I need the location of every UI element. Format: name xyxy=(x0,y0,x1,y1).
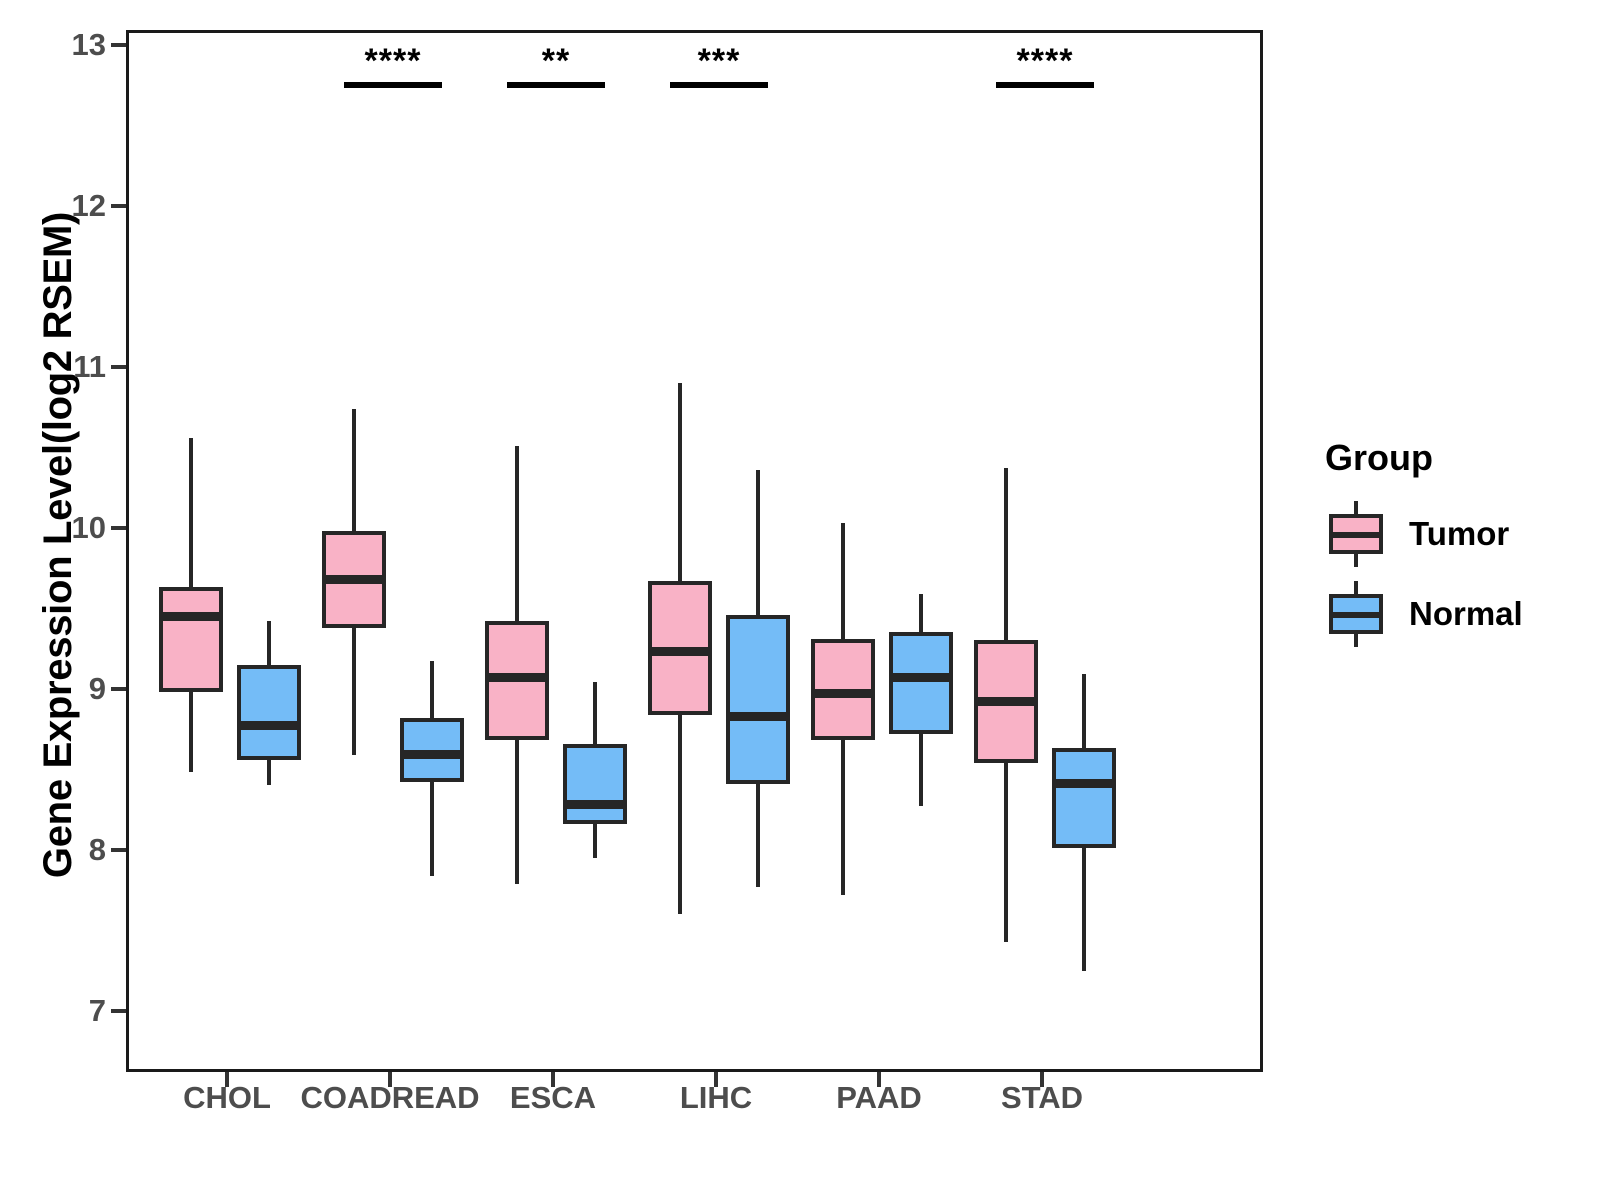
boxplot-median-line xyxy=(889,673,953,682)
x-tick-label-paad: PAAD xyxy=(836,1080,922,1116)
legend-item-label: Tumor xyxy=(1409,515,1509,553)
boxplot-median-line xyxy=(159,612,223,621)
y-tick-mark xyxy=(111,526,126,530)
chart-root: Gene Expression Level(log2 RSEM) 7891011… xyxy=(0,0,1600,1200)
y-tick-label: 7 xyxy=(60,993,106,1029)
y-tick-mark xyxy=(111,1009,126,1013)
legend-item-normal[interactable]: Normal xyxy=(1325,581,1585,647)
y-tick-label: 12 xyxy=(60,188,106,224)
significance-label: ** xyxy=(542,44,570,78)
plot-panel: ************* xyxy=(126,30,1263,1072)
boxplot-box xyxy=(1052,748,1116,848)
significance-label: *** xyxy=(698,44,741,78)
significance-bracket-line xyxy=(670,82,768,88)
boxplot-median-line xyxy=(322,575,386,584)
boxplot-median-line xyxy=(648,647,712,656)
boxplot-median-line xyxy=(563,800,627,809)
x-tick-label-coadread: COADREAD xyxy=(300,1080,479,1116)
y-tick-label: 11 xyxy=(60,349,106,385)
x-tick-label-esca: ESCA xyxy=(510,1080,596,1116)
significance-bracket-line xyxy=(996,82,1094,88)
boxplot-median-line xyxy=(974,697,1038,706)
boxplot-median-line xyxy=(400,750,464,759)
boxplot-median-line xyxy=(1052,779,1116,788)
x-tick-label-stad: STAD xyxy=(1001,1080,1083,1116)
y-tick-label: 8 xyxy=(60,832,106,868)
boxplot-median-line xyxy=(726,712,790,721)
x-tick-label-lihc: LIHC xyxy=(680,1080,752,1116)
y-tick-mark xyxy=(111,43,126,47)
significance-bracket-line xyxy=(344,82,442,88)
x-tick-label-chol: CHOL xyxy=(183,1080,271,1116)
legend-item-label: Normal xyxy=(1409,595,1523,633)
boxplot-box xyxy=(159,587,223,692)
legend-key-swatch xyxy=(1325,501,1387,567)
significance-label: **** xyxy=(1017,44,1074,78)
y-tick-mark xyxy=(111,365,126,369)
boxplot-median-line xyxy=(237,721,301,730)
legend-key-median xyxy=(1329,532,1383,538)
boxplot-box xyxy=(889,632,953,733)
y-tick-label: 10 xyxy=(60,510,106,546)
legend-key-swatch xyxy=(1325,581,1387,647)
legend-items: TumorNormal xyxy=(1325,501,1585,647)
boxplot-median-line xyxy=(485,673,549,682)
y-tick-mark xyxy=(111,204,126,208)
y-tick-label: 13 xyxy=(60,27,106,63)
legend: Group TumorNormal xyxy=(1325,437,1585,661)
boxplot-box xyxy=(237,665,301,760)
significance-label: **** xyxy=(365,44,422,78)
boxplot-median-line xyxy=(811,689,875,698)
legend-item-tumor[interactable]: Tumor xyxy=(1325,501,1585,567)
boxplot-box xyxy=(726,615,790,784)
legend-title: Group xyxy=(1325,437,1585,479)
boxplot-box xyxy=(563,744,627,825)
y-tick-mark xyxy=(111,687,126,691)
y-tick-mark xyxy=(111,848,126,852)
y-tick-label: 9 xyxy=(60,671,106,707)
significance-bracket-line xyxy=(507,82,605,88)
legend-key-median xyxy=(1329,612,1383,618)
